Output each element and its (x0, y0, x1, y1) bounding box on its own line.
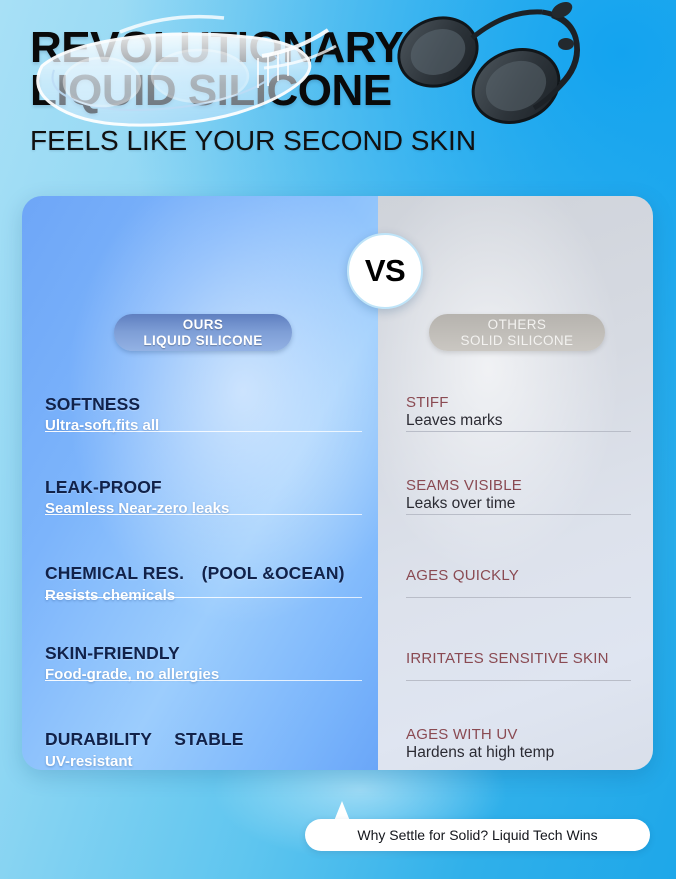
row-divider (45, 597, 362, 598)
others-feature-list: STIFF Leaves marks SEAMS VISIBLE Leaks o… (378, 368, 653, 783)
row-divider (45, 514, 362, 515)
feature-subtitle: Leaks over time (406, 495, 635, 513)
row-divider (406, 514, 631, 515)
headline-line-1: REVOLUTIONARY (30, 23, 403, 72)
comparison-infographic: REVOLUTIONARY LIQUID SILICONE FEELS LIKE… (0, 0, 676, 879)
bottom-banner: Why Settle for Solid? Liquid Tech Wins (305, 819, 650, 851)
feature-row: AGES QUICKLY (378, 534, 653, 617)
feature-title: IRRITATES SENSITIVE SKIN (406, 617, 635, 667)
feature-row: CHEMICAL RES. (POOL &OCEAN) Resists chem… (22, 534, 378, 617)
vs-badge: VS (347, 233, 423, 309)
feature-title: SKIN-FRIENDLY (45, 617, 354, 664)
feature-row: DURABILITY STABLE UV-resistant (22, 700, 378, 783)
row-divider (406, 597, 631, 598)
feature-subtitle: Leaves marks (406, 412, 635, 430)
row-divider (45, 680, 362, 681)
feature-subtitle: UV-resistant (45, 753, 354, 770)
banner-pointer-icon (334, 801, 350, 821)
feature-subtitle: Resists chemicals (45, 587, 354, 604)
feature-title: LEAK-PROOF (45, 451, 354, 498)
feature-row: SKIN-FRIENDLY Food-grade, no allergies (22, 617, 378, 700)
feature-row: SEAMS VISIBLE Leaks over time (378, 451, 653, 534)
others-label-pill: OTHERS SOLID SILICONE (429, 314, 605, 351)
row-divider (406, 431, 631, 432)
feature-title: STIFF (406, 368, 635, 411)
ours-feature-list: SOFTNESS Ultra-soft,fits all LEAK-PROOF … (22, 368, 378, 783)
feature-row: AGES WITH UV Hardens at high temp (378, 700, 653, 783)
feature-title: AGES WITH UV (406, 700, 635, 743)
feature-subtitle: Hardens at high temp (406, 744, 635, 762)
feature-title: SOFTNESS (45, 368, 354, 415)
feature-title: CHEMICAL RES. (POOL &OCEAN) (45, 534, 354, 585)
headline: REVOLUTIONARY LIQUID SILICONE (30, 26, 650, 112)
feature-row: STIFF Leaves marks (378, 368, 653, 451)
headline-block: REVOLUTIONARY LIQUID SILICONE FEELS LIKE… (30, 26, 650, 157)
others-pill-line-2: SOLID SILICONE (461, 333, 574, 349)
feature-row: LEAK-PROOF Seamless Near-zero leaks (22, 451, 378, 534)
ours-pill-line-2: LIQUID SILICONE (143, 333, 262, 349)
headline-line-2: LIQUID SILICONE (30, 69, 650, 112)
others-pill-line-1: OTHERS (488, 317, 547, 333)
row-divider (45, 431, 362, 432)
feature-title: AGES QUICKLY (406, 534, 635, 584)
headline-subtitle: FEELS LIKE YOUR SECOND SKIN (30, 125, 650, 157)
ours-label-pill: OURS LIQUID SILICONE (114, 314, 292, 351)
feature-title: DURABILITY STABLE (45, 700, 354, 751)
feature-title: SEAMS VISIBLE (406, 451, 635, 494)
ours-pill-line-1: OURS (183, 317, 224, 333)
feature-row: IRRITATES SENSITIVE SKIN (378, 617, 653, 700)
row-divider (406, 680, 631, 681)
feature-row: SOFTNESS Ultra-soft,fits all (22, 368, 378, 451)
